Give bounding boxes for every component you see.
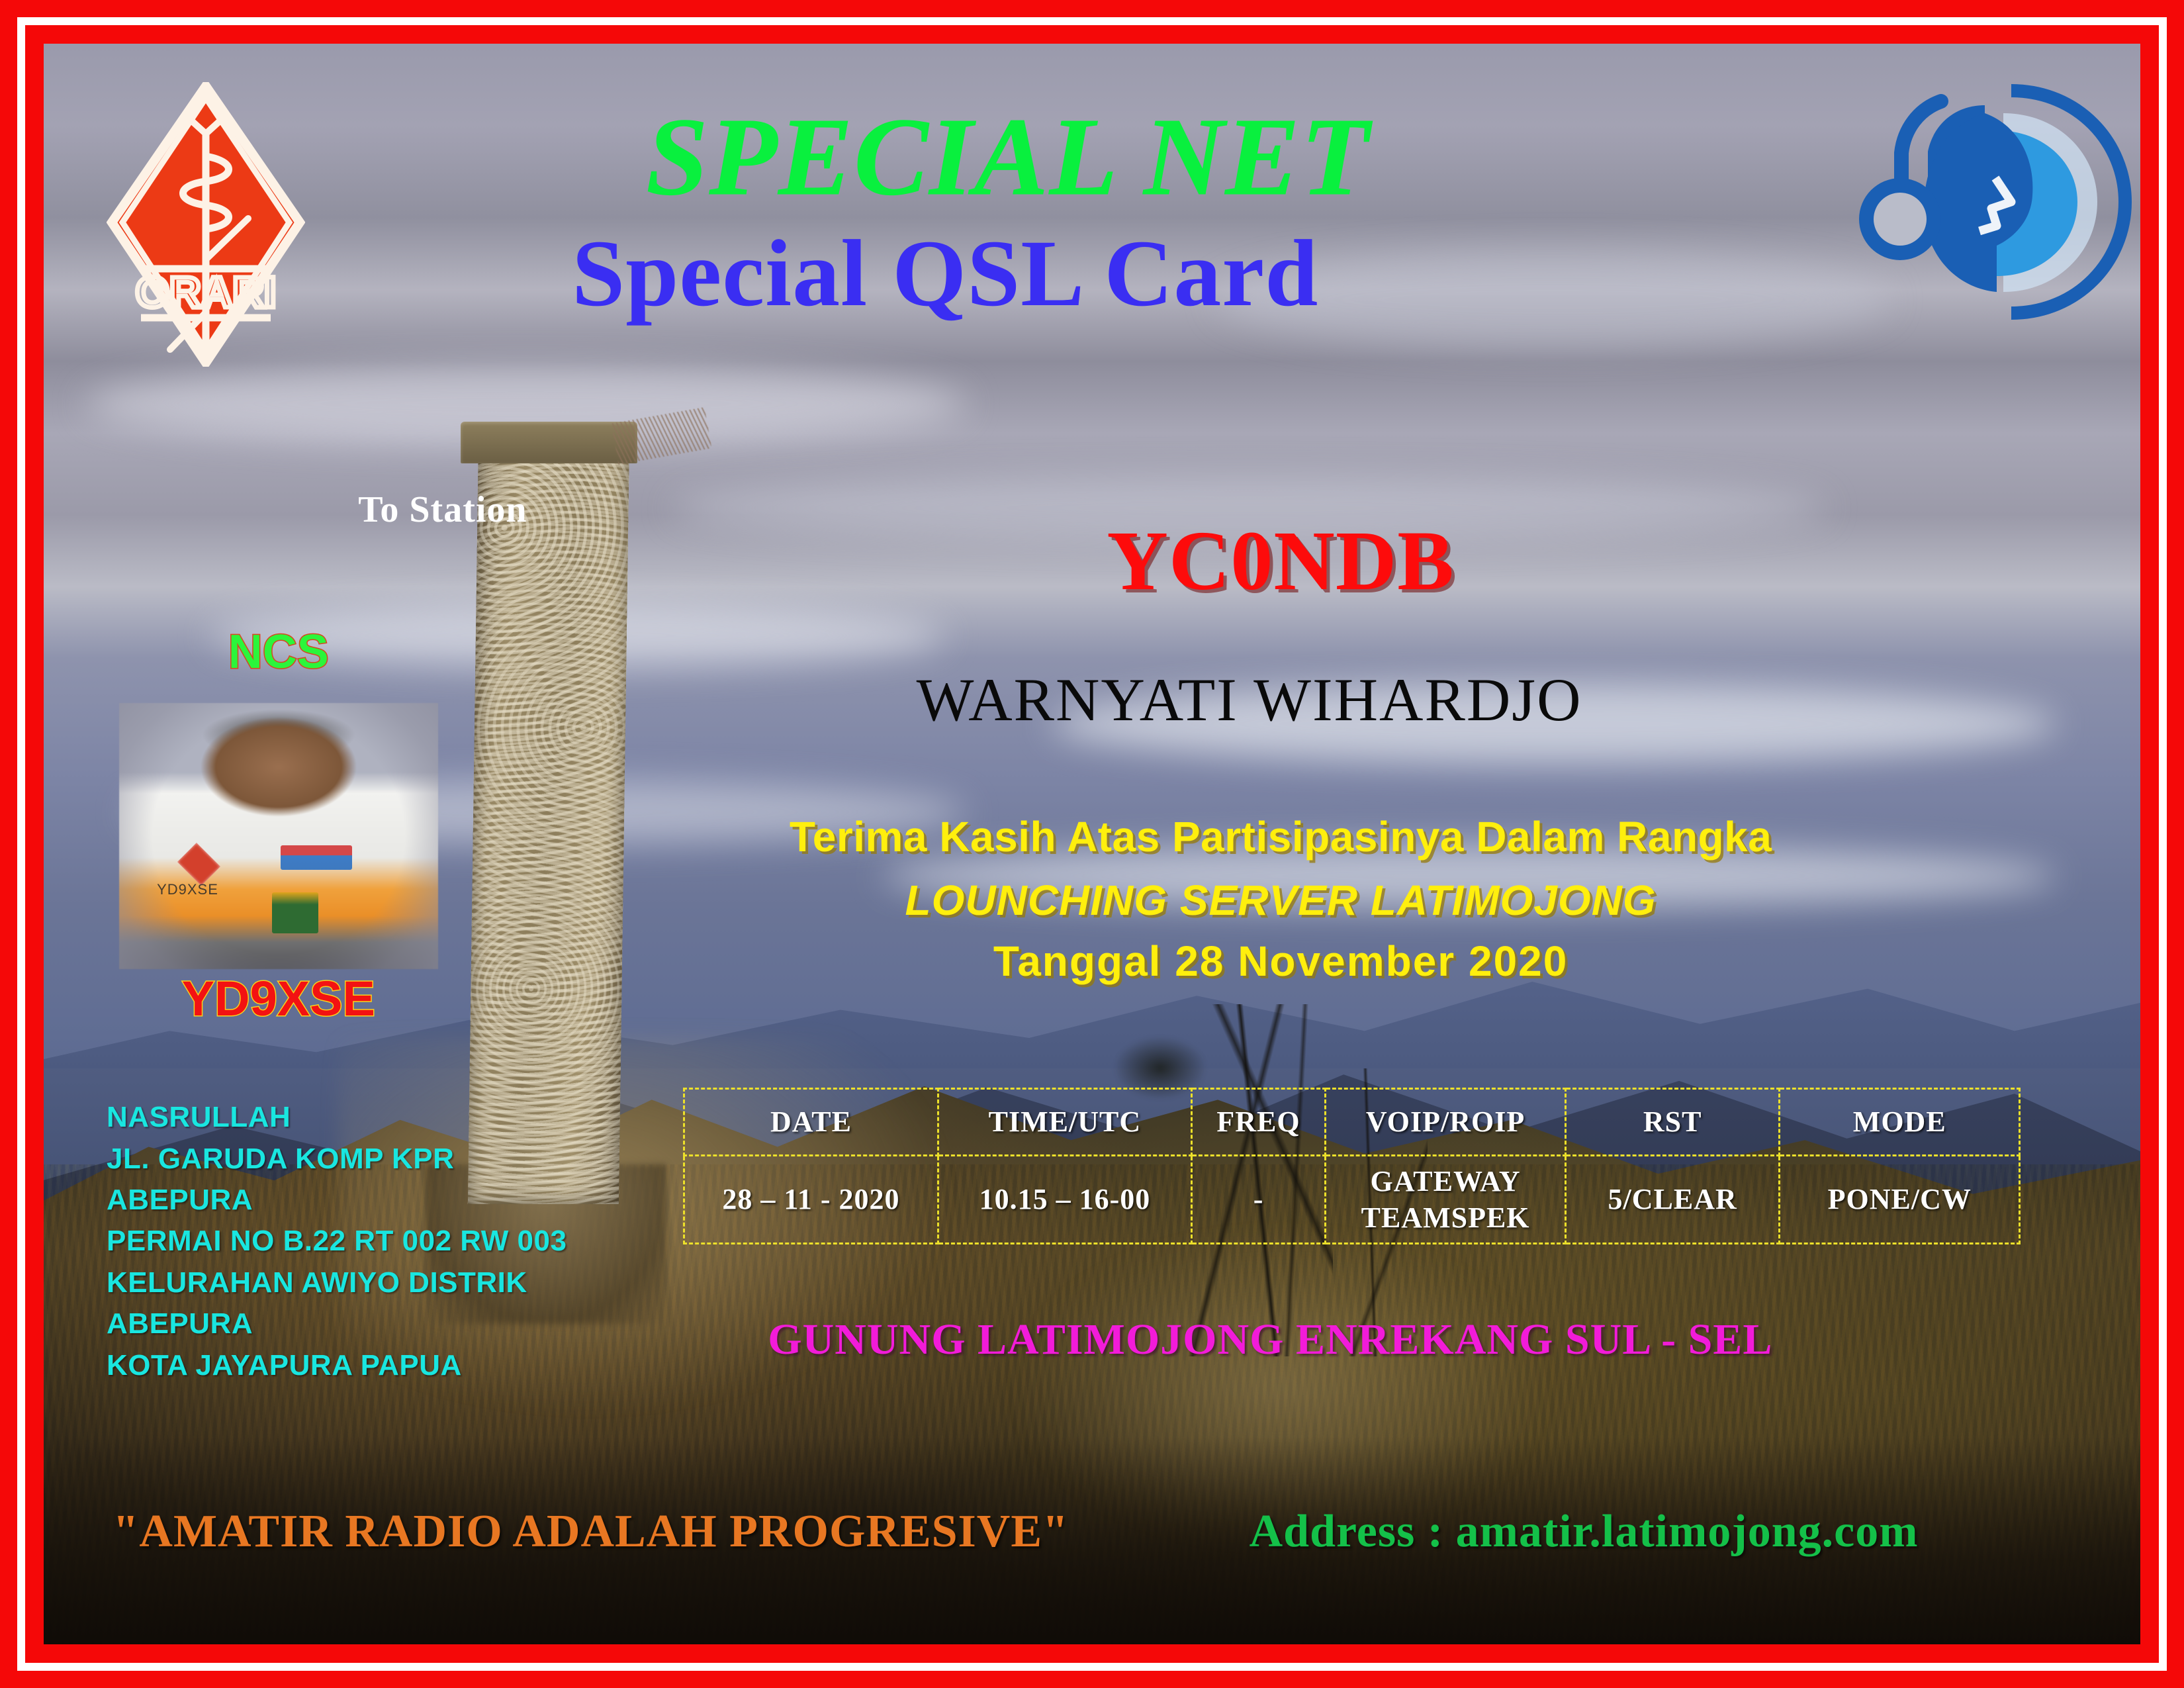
- address-line: JL. GARUDA KOMP KPR: [107, 1139, 694, 1180]
- to-station-label: To Station: [358, 489, 527, 531]
- headset-operator-logo: [1855, 79, 2133, 324]
- address-line: NASRULLAH: [107, 1097, 694, 1138]
- column-header-freq: FREQ: [1192, 1088, 1326, 1155]
- cell-time: 10.15 – 16-00: [938, 1155, 1191, 1243]
- cell-freq: -: [1192, 1155, 1326, 1243]
- shirt-id-card-icon: [272, 892, 318, 934]
- cell-rst: 5/CLEAR: [1566, 1155, 1780, 1243]
- column-header-time: TIME/UTC: [938, 1088, 1191, 1155]
- ncs-callsign: YD9XSE: [111, 970, 446, 1027]
- slogan-text: "AMATIR RADIO ADALAH PROGRESIVE": [113, 1505, 1069, 1558]
- address-line: ABEPURA: [107, 1180, 694, 1221]
- table-row: 28 – 11 - 2020 10.15 – 16-00 - GATEWAY T…: [684, 1155, 2020, 1243]
- column-header-rst: RST: [1566, 1088, 1780, 1155]
- location-line: GUNUNG LATIMOJONG ENREKANG SUL - SEL: [641, 1315, 1899, 1365]
- cell-mode: PONE/CW: [1780, 1155, 2020, 1243]
- thanks-line: Terima Kasih Atas Partisipasinya Dalam R…: [735, 812, 1825, 861]
- cell-date: 28 – 11 - 2020: [684, 1155, 938, 1243]
- content-layer: ORARI SPECIAL NET Special QSL Card To St…: [44, 44, 2140, 1644]
- qsl-card-inner-border: ORARI SPECIAL NET Special QSL Card To St…: [25, 25, 2159, 1663]
- table-header-row: DATE TIME/UTC FREQ VOIP/ROIP RST MODE: [684, 1088, 2020, 1155]
- station-address-block: NASRULLAH JL. GARUDA KOMP KPR ABEPURA PE…: [107, 1097, 694, 1386]
- qsl-card-white-gap: ORARI SPECIAL NET Special QSL Card To St…: [17, 17, 2167, 1671]
- address-line: PERMAI NO B.22 RT 002 RW 003: [107, 1221, 694, 1262]
- column-header-date: DATE: [684, 1088, 938, 1155]
- address-line: ABEPURA: [107, 1303, 694, 1344]
- shirt-callsign-text: YD9XSE: [157, 881, 218, 898]
- qsl-card-outer-border: ORARI SPECIAL NET Special QSL Card To St…: [0, 0, 2184, 1688]
- address-line: KELURAHAN AWIYO DISTRIK: [107, 1262, 694, 1303]
- event-line: LOUNCHING SERVER LATIMOJONG: [735, 876, 1825, 925]
- ncs-role-label: NCS: [173, 625, 383, 679]
- cell-voip: GATEWAY TEAMSPEK: [1325, 1155, 1565, 1243]
- shirt-badge-org-icon: [281, 845, 352, 869]
- contact-address-text: Address : amatir.latimojong.com: [1250, 1505, 1919, 1558]
- station-callsign: YC0NDB: [945, 512, 1616, 610]
- column-header-voip: VOIP/ROIP: [1325, 1088, 1565, 1155]
- page-subtitle: Special QSL Card: [191, 226, 1700, 322]
- address-line: KOTA JAYAPURA PAPUA: [107, 1345, 694, 1386]
- operator-name: WARNYATI WIHARDJO: [746, 665, 1752, 735]
- column-header-mode: MODE: [1780, 1088, 2020, 1155]
- event-date-line: Tanggal 28 November 2020: [735, 937, 1825, 986]
- qso-log-table: DATE TIME/UTC FREQ VOIP/ROIP RST MODE 28…: [683, 1088, 2021, 1244]
- page-title: SPECIAL NET: [232, 101, 1784, 212]
- qsl-card-background-photo: ORARI SPECIAL NET Special QSL Card To St…: [44, 44, 2140, 1644]
